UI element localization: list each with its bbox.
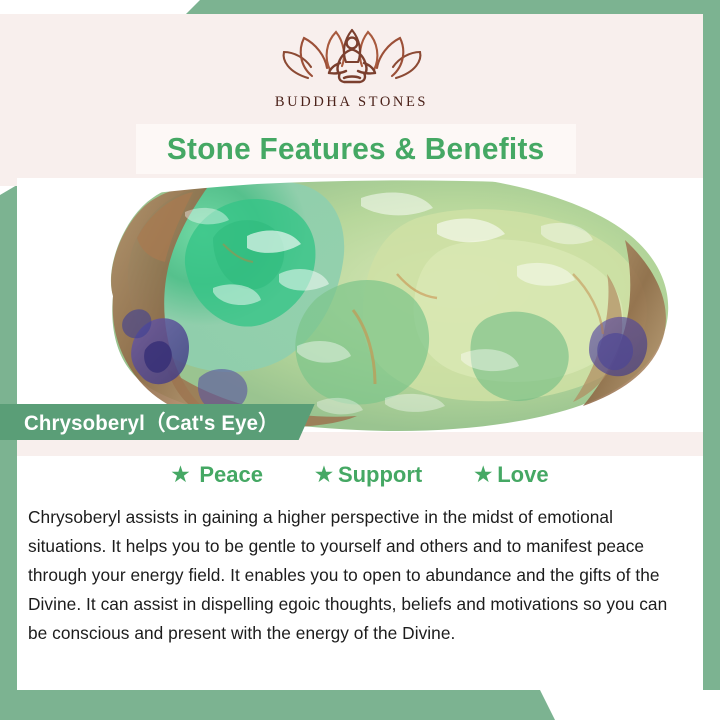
lotus-meditation-icon xyxy=(278,26,426,88)
star-icon: ★ xyxy=(315,465,333,485)
title-banner: Stone Features & Benefits xyxy=(136,124,576,174)
frame-bottom-bar xyxy=(0,690,720,720)
star-icon: ★ xyxy=(474,465,492,485)
keyword-love: ★ Love xyxy=(474,462,548,488)
keyword-support: ★ Support xyxy=(315,462,422,488)
keyword-peace: ★ Peace xyxy=(171,462,263,488)
stone-photo-area xyxy=(17,178,703,432)
star-icon: ★ xyxy=(171,465,189,485)
keyword-label: Support xyxy=(338,462,422,488)
brand-logo: BUDDHA STONES xyxy=(0,26,703,111)
keyword-label: Love xyxy=(497,462,548,488)
frame-right-bar xyxy=(703,0,720,690)
keyword-label: Peace xyxy=(199,462,263,488)
stone-photo xyxy=(17,178,703,432)
stone-description: Chrysoberyl assists in gaining a higher … xyxy=(28,503,690,648)
page-title: Stone Features & Benefits xyxy=(167,131,545,167)
stone-name-label: Chrysoberyl（Cat's Eye） xyxy=(24,407,279,437)
brand-name: BUDDHA STONES xyxy=(275,94,428,111)
stone-features-poster: BUDDHA STONES Stone Features & Benefits xyxy=(0,0,720,720)
stone-name-banner: Chrysoberyl（Cat's Eye） xyxy=(0,404,315,440)
frame-top-bar xyxy=(0,0,720,15)
benefit-keywords: ★ Peace ★ Support ★ Love xyxy=(17,462,703,488)
